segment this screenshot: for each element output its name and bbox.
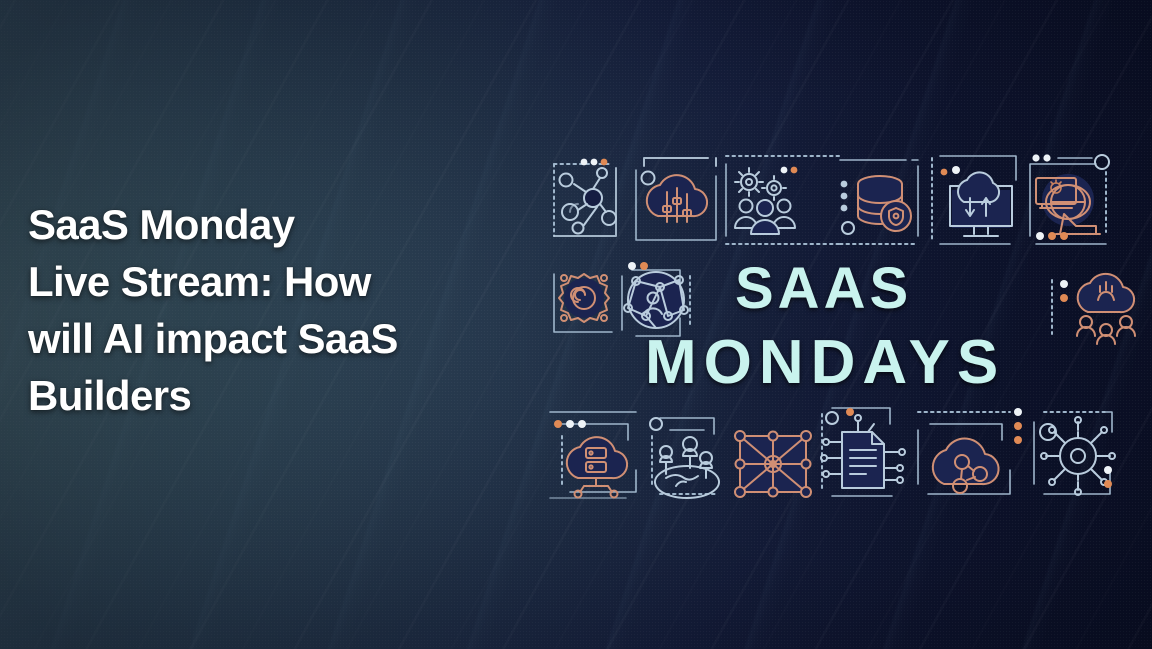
icon-cloud-nodes: [918, 408, 1022, 494]
banner-stage: SaaS Monday Live Stream: How will AI imp…: [0, 0, 1152, 649]
icon-global-devices: [1030, 154, 1109, 244]
icon-team-gears: [726, 156, 840, 244]
icon-global-users: [650, 418, 719, 498]
icon-cloud-settings: [636, 158, 716, 240]
icon-network-sphere-user: [622, 262, 690, 336]
icon-database-shield: [840, 160, 918, 244]
wordmark-mondays: MONDAYS: [645, 327, 1005, 398]
wordmark-saas: SAAS: [735, 255, 912, 322]
icon-gear-ai: [554, 274, 612, 332]
icon-document-circuit: [821, 408, 905, 496]
icon-cloud-server: [550, 412, 636, 498]
icon-mesh-network: [735, 431, 811, 497]
banner-headline: SaaS Monday Live Stream: How will AI imp…: [28, 196, 528, 424]
icon-network-nodes: [554, 159, 616, 236]
icon-gear-circuit: [1034, 412, 1115, 495]
icon-cloud-sync-monitor: [932, 156, 1016, 244]
